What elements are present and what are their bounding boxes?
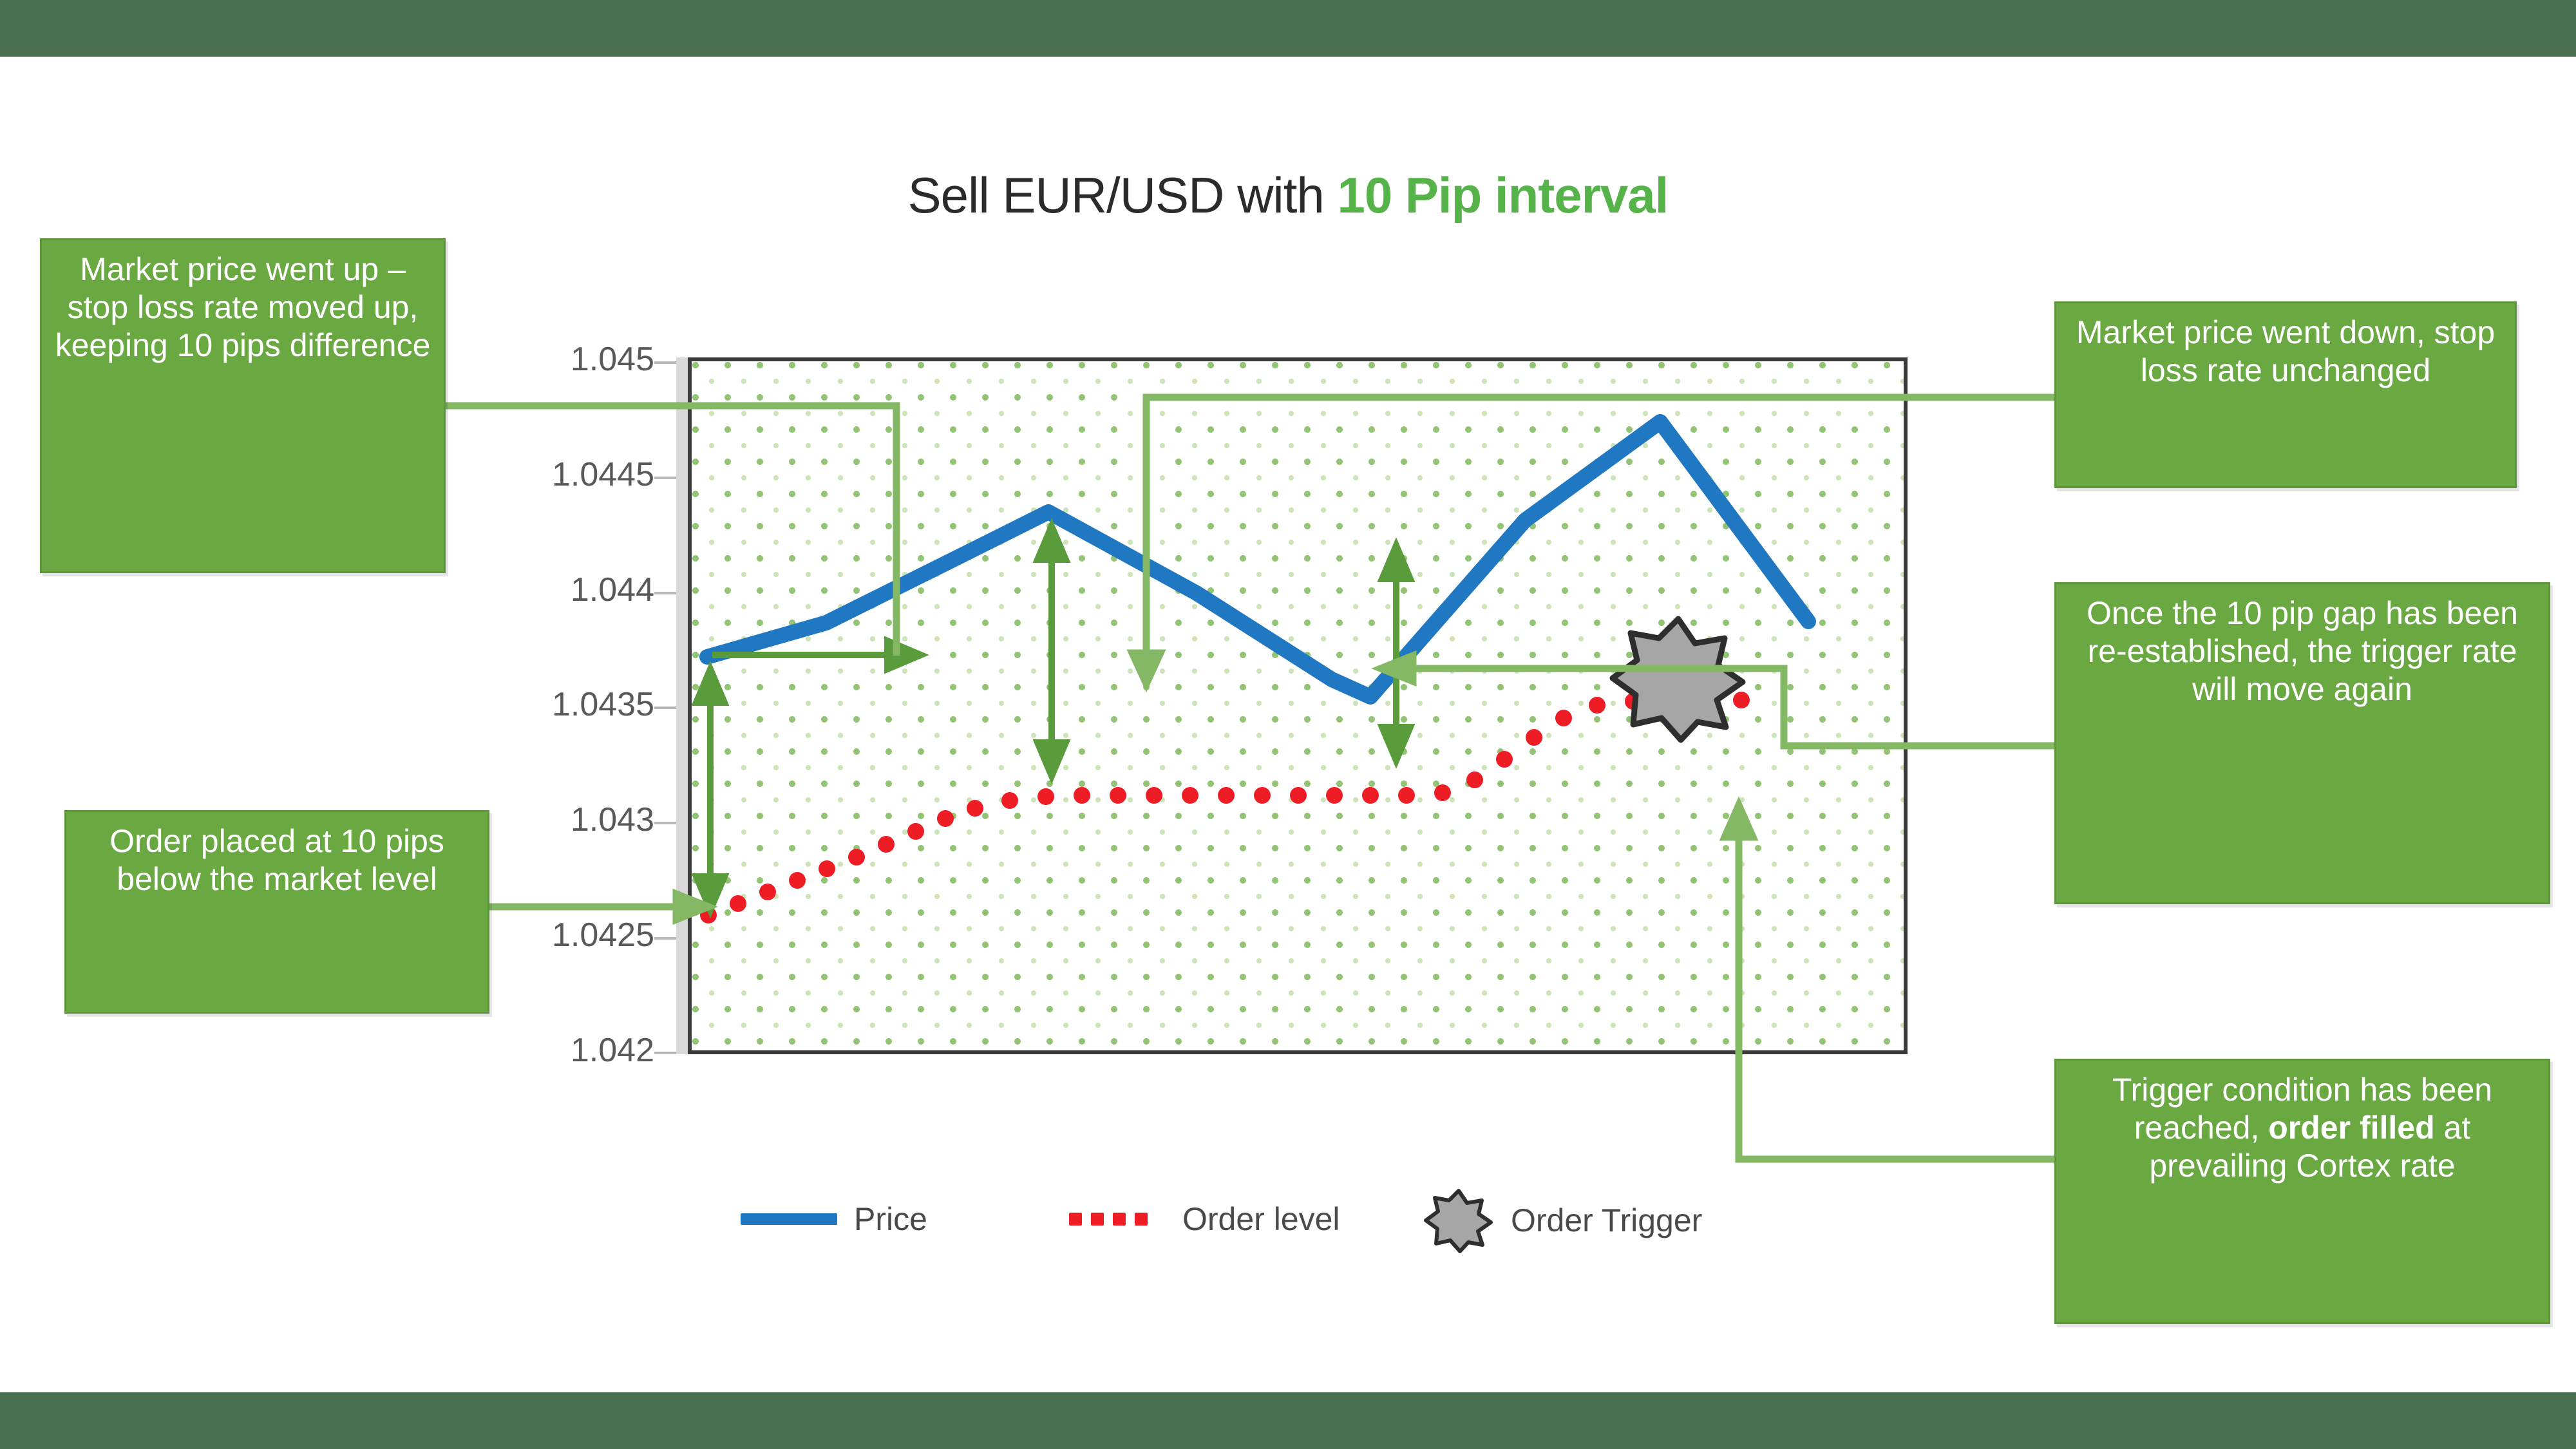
slide-root: Sell EUR/USD with 10 Pip interval 1.045 … (0, 0, 2576, 1449)
legend-label-price: Price (854, 1200, 927, 1238)
starburst-icon (1423, 1185, 1494, 1256)
callout-trigger-reached[interactable]: Trigger condition has been reached, orde… (2054, 1059, 2550, 1324)
legend-item-order-trigger[interactable]: Order Trigger (1423, 1185, 1702, 1256)
chart-legend: Price Order level Order Trigger (741, 1184, 1964, 1267)
connector-regap (1381, 656, 2054, 746)
connector-price-up (446, 406, 896, 656)
price-line-swatch-icon (741, 1213, 837, 1225)
connector-order-placed (489, 894, 708, 920)
connector-price-down (1132, 397, 2054, 684)
legend-label-order-trigger: Order Trigger (1511, 1202, 1702, 1239)
callout-price-went-up[interactable]: Market price went up – stop loss rate mo… (40, 238, 446, 573)
callout-trigger-text-bold: order filled (2268, 1110, 2434, 1146)
legend-item-order-level[interactable]: Order level (1069, 1200, 1340, 1238)
callout-gap-reestablished[interactable]: Once the 10 pip gap has been re-establis… (2054, 582, 2550, 904)
legend-item-price[interactable]: Price (741, 1200, 927, 1238)
callout-price-went-down[interactable]: Market price went down, stop loss rate u… (2054, 301, 2517, 488)
callout-order-placed[interactable]: Order placed at 10 pips below the market… (64, 810, 489, 1014)
order-level-dots-swatch-icon (1069, 1213, 1166, 1226)
legend-label-order-level: Order level (1182, 1200, 1340, 1238)
connector-trigger (1725, 805, 2054, 1159)
